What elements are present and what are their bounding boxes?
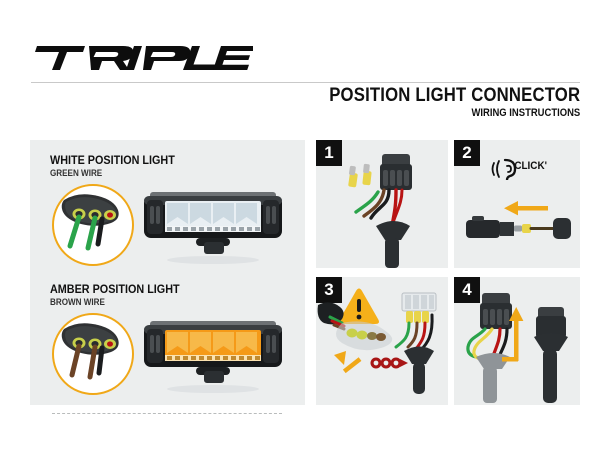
triple-r-logo xyxy=(33,40,253,74)
step-3-panel: 3 xyxy=(316,277,448,405)
connector-icon xyxy=(466,220,500,238)
page-title: POSITION LIGHT CONNECTOR xyxy=(329,86,580,106)
yellow-terminal xyxy=(348,164,372,188)
variant-amber-wire-label: BROWN WIRE xyxy=(50,297,105,308)
no-grease-icon xyxy=(371,358,409,369)
step-4-panel: 4 xyxy=(454,277,580,405)
variant-amber-title: AMBER POSITION LIGHT xyxy=(50,283,180,296)
variant-white-wire-label: GREEN WIRE xyxy=(50,168,102,179)
rubber-boot-icon xyxy=(534,333,568,351)
orange-arrow-left-icon xyxy=(504,201,548,215)
step-4-illustration xyxy=(454,277,580,405)
page-subtitle: WIRING INSTRUCTIONS xyxy=(335,107,580,120)
instruction-sheet: POSITION LIGHT CONNECTOR WIRING INSTRUCT… xyxy=(0,0,610,450)
step-3-illustration xyxy=(316,277,448,405)
header-divider xyxy=(31,82,580,83)
variant-divider xyxy=(52,413,282,414)
step-1-illustration xyxy=(316,140,448,268)
header-title-block: POSITION LIGHT CONNECTOR WIRING INSTRUCT… xyxy=(295,86,580,120)
step-2-panel: 2 'CLICK' xyxy=(454,140,580,268)
amber-position-light-wire-closeup xyxy=(52,313,134,395)
orange-arrow-icon xyxy=(334,351,361,373)
variant-white-title: WHITE POSITION LIGHT xyxy=(50,154,175,167)
white-light-bar-image xyxy=(134,176,292,271)
warning-triangle-icon xyxy=(339,289,379,325)
white-position-light-wire-closeup xyxy=(52,184,134,266)
amber-light-bar-image xyxy=(134,305,292,400)
product-variants-panel: WHITE POSITION LIGHT GREEN WIRE xyxy=(30,140,305,405)
step-1-panel: 1 xyxy=(316,140,448,268)
triple-r-logo-mark xyxy=(33,40,253,74)
step-2-illustration xyxy=(454,140,580,268)
